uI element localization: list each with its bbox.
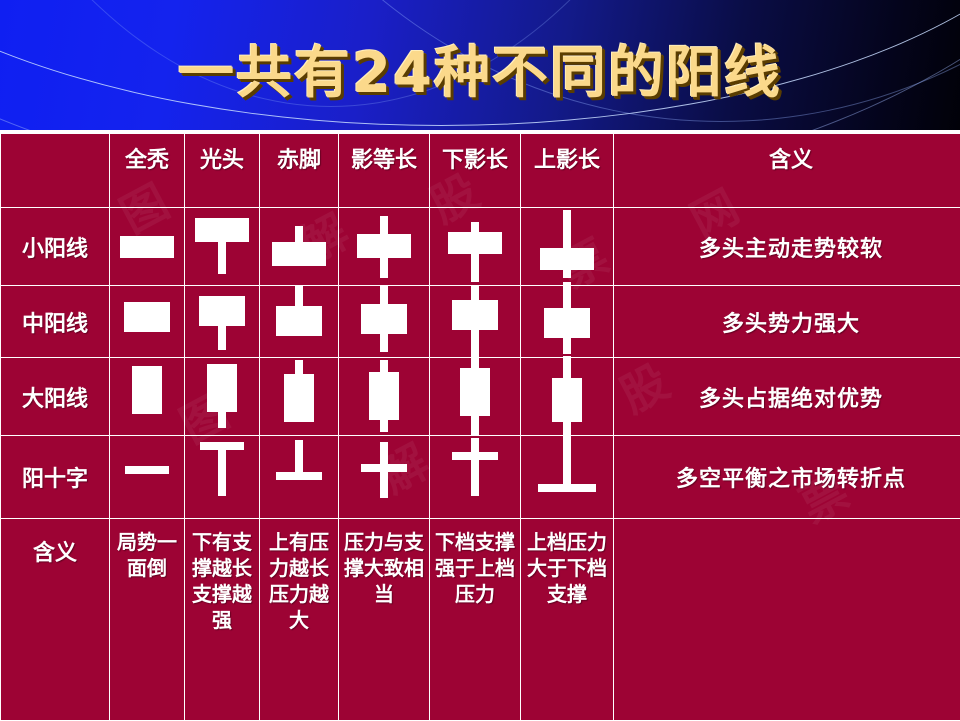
- col-header-hanyi: 含义: [614, 134, 960, 208]
- footer-note-shangyingchang: 上档压力大于下档支撑: [521, 519, 614, 721]
- table-row: 中阳线: [1, 286, 960, 358]
- table-header-row: 全秃 光头 赤脚 影等长 下影长 上影长 含义: [1, 134, 960, 208]
- candle-dayang-xiayingchang: [430, 358, 521, 436]
- row-label-yangshizi: 阳十字: [1, 436, 110, 519]
- row-label-hanyi-text: 含义: [33, 541, 77, 566]
- candle-dayang-quantu: [110, 358, 185, 436]
- col-header-xiayingchang: 下影长: [430, 134, 521, 208]
- candle-xiaoyang-chijiao: [260, 208, 339, 286]
- doji-yangshizi-shangyingchang: [521, 436, 614, 519]
- footer-note-yingdengchang: 压力与支撑大致相当: [339, 519, 430, 721]
- table-footer-row: 含义 局势一面倒 下有支撑越长支撑越强 上有压力越长压力越大 压力与支撑大致相当…: [1, 519, 960, 721]
- title-banner: 一共有24种不同的阳线: [0, 0, 960, 130]
- candle-xiaoyang-quantu: [110, 208, 185, 286]
- doji-yangshizi-quantu: [110, 436, 185, 519]
- row-label-zhongyangxian: 中阳线: [1, 286, 110, 358]
- candle-zhongyang-xiayingchang: [430, 286, 521, 358]
- candlestick-table: 全秃 光头 赤脚 影等长 下影长 上影长 含义 小阳线: [0, 133, 960, 721]
- col-header-chijiao: 赤脚: [260, 134, 339, 208]
- candle-zhongyang-yingdengchang: [339, 286, 430, 358]
- col-header-shangyingchang: 上影长: [521, 134, 614, 208]
- candle-xiaoyang-shangyingchang: [521, 208, 614, 286]
- footer-note-chijiao: 上有压力越长压力越大: [260, 519, 339, 721]
- doji-yangshizi-yingdengchang: [339, 436, 430, 519]
- meaning-zhongyangxian: 多头势力强大: [614, 286, 960, 358]
- meaning-yangshizi: 多空平衡之市场转折点: [614, 436, 960, 519]
- table-row: 大阳线: [1, 358, 960, 436]
- col-header-quantu: 全秃: [110, 134, 185, 208]
- table-row: 阳十字: [1, 436, 960, 519]
- footer-note-xiayingchang: 下档支撑强于上档压力: [430, 519, 521, 721]
- row-label-xiaoyangxian: 小阳线: [1, 208, 110, 286]
- slide-root: 一共有24种不同的阳线 全秃 光头 赤脚 影等长 下影长 上影长 含义 小阳线: [0, 0, 960, 720]
- page-title: 一共有24种不同的阳线: [0, 28, 960, 109]
- row-label-hanyi: 含义: [1, 519, 110, 721]
- candle-dayang-shangyingchang: [521, 358, 614, 436]
- candle-zhongyang-chijiao: [260, 286, 339, 358]
- meaning-dayangxian: 多头占据绝对优势: [614, 358, 960, 436]
- candle-dayang-guangtou: [185, 358, 260, 436]
- table-row: 小阳线: [1, 208, 960, 286]
- footer-note-empty: [614, 519, 960, 721]
- candle-zhongyang-guangtou: [185, 286, 260, 358]
- candle-dayang-chijiao: [260, 358, 339, 436]
- footer-note-guangtou: 下有支撑越长支撑越强: [185, 519, 260, 721]
- col-header-guangtou: 光头: [185, 134, 260, 208]
- candle-xiaoyang-yingdengchang: [339, 208, 430, 286]
- candle-zhongyang-shangyingchang: [521, 286, 614, 358]
- candle-zhongyang-quantu: [110, 286, 185, 358]
- meaning-xiaoyangxian: 多头主动走势较软: [614, 208, 960, 286]
- corner-cell: [1, 134, 110, 208]
- candle-xiaoyang-xiayingchang: [430, 208, 521, 286]
- row-label-dayangxian: 大阳线: [1, 358, 110, 436]
- doji-yangshizi-chijiao: [260, 436, 339, 519]
- footer-note-quantu: 局势一面倒: [110, 519, 185, 721]
- col-header-yingdengchang: 影等长: [339, 134, 430, 208]
- doji-yangshizi-guangtou: [185, 436, 260, 519]
- candle-dayang-yingdengchang: [339, 358, 430, 436]
- doji-yangshizi-xiayingchang: [430, 436, 521, 519]
- candle-xiaoyang-guangtou: [185, 208, 260, 286]
